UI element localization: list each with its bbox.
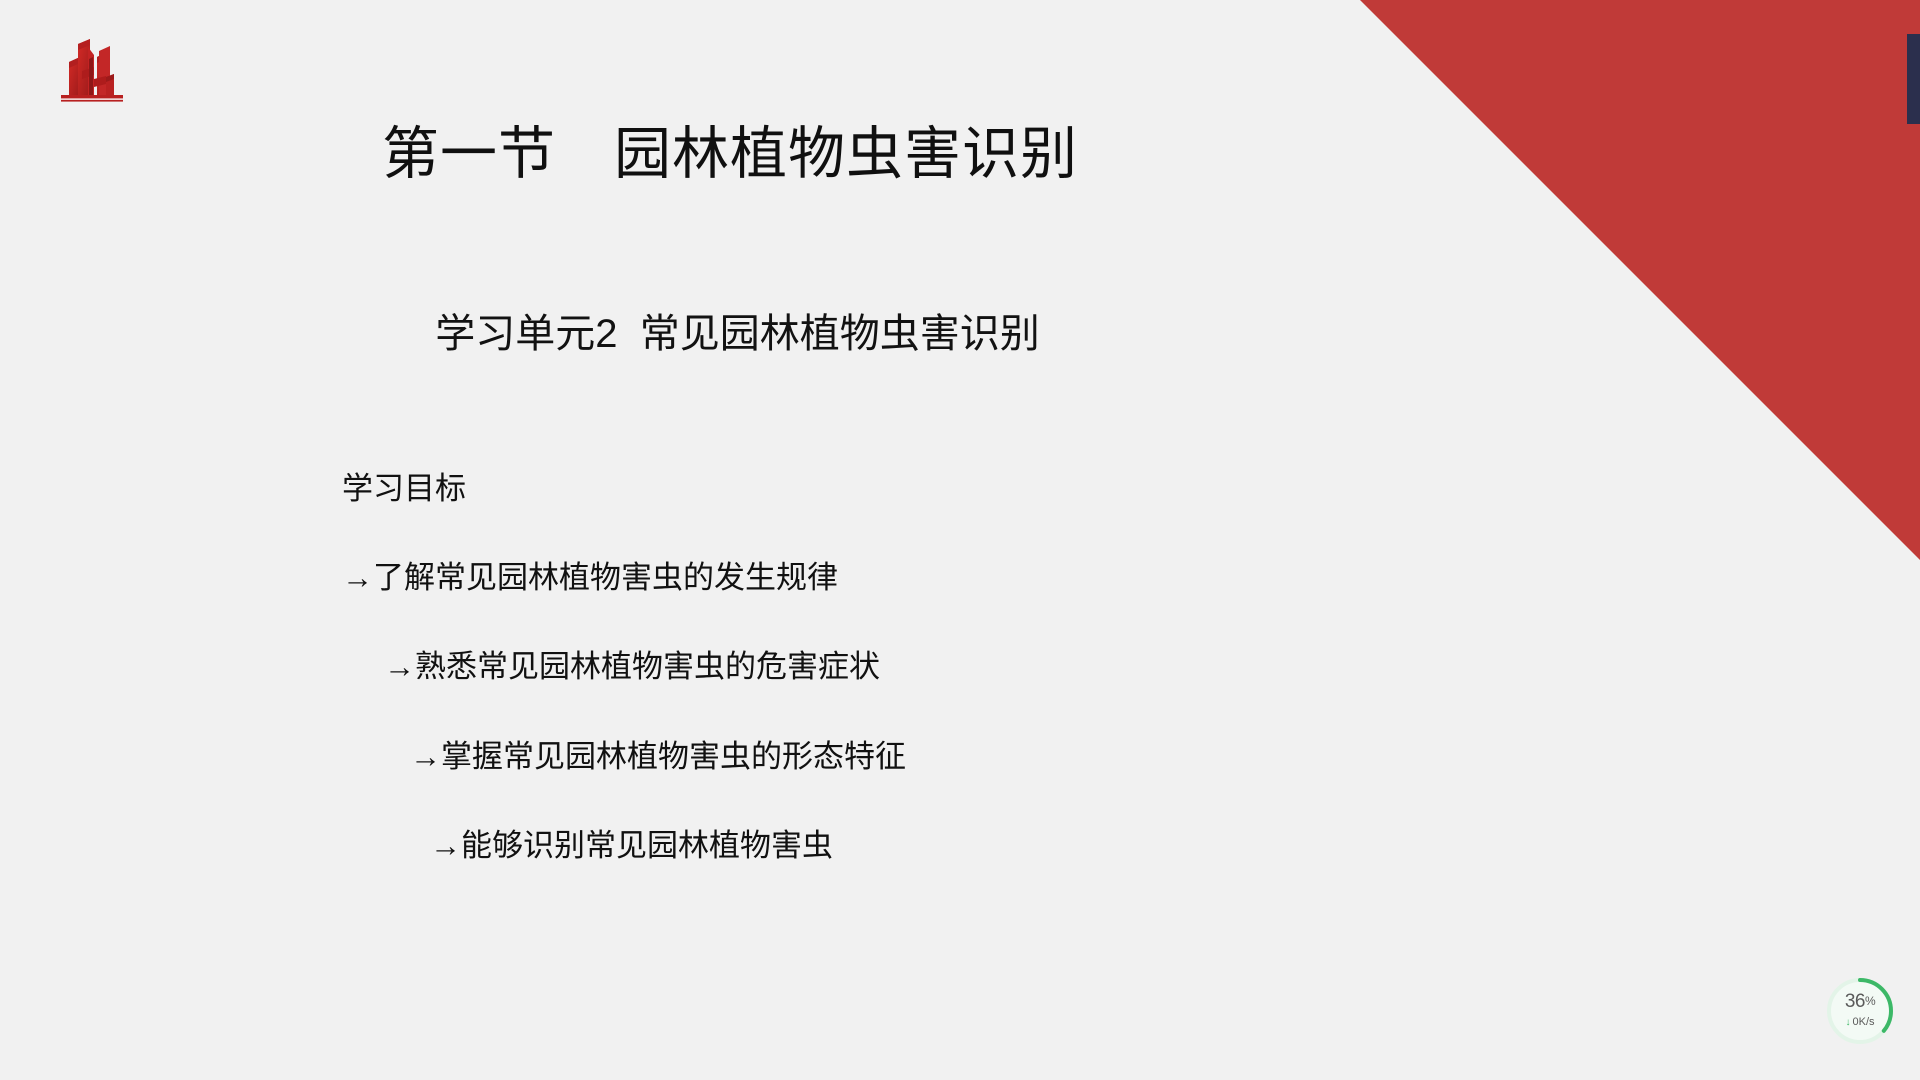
objective-item: →掌握常见园林植物害虫的形态特征 — [410, 738, 1342, 775]
objective-item: →了解常见园林植物害虫的发生规律 — [342, 559, 1342, 596]
decorative-navy-bar — [1907, 34, 1920, 124]
objectives-heading: 学习目标 — [342, 470, 1342, 507]
percent-sign: % — [1865, 994, 1875, 1008]
page-title: 第一节 园林植物虫害识别 — [0, 122, 1460, 188]
objective-item: →熟悉常见园林植物害虫的危害症状 — [384, 648, 1342, 685]
download-progress-widget[interactable]: 36% ↓0K/s — [1823, 974, 1897, 1048]
objective-item: →能够识别常见园林植物害虫 — [430, 827, 1342, 864]
page-subtitle: 学习单元2 常见园林植物虫害识别 — [0, 310, 1475, 358]
download-speed-value: 0K/s — [1852, 1016, 1874, 1028]
learning-objectives-block: 学习目标 →了解常见园林植物害虫的发生规律 →熟悉常见园林植物害虫的危害症状 →… — [342, 470, 1342, 864]
progress-percent-value: 36 — [1845, 991, 1865, 1012]
download-arrow-icon: ↓ — [1845, 1017, 1850, 1028]
presentation-slide: 第一节 园林植物虫害识别 学习单元2 常见园林植物虫害识别 学习目标 →了解常见… — [0, 0, 1920, 1080]
decorative-triangle-top-right — [1360, 0, 1920, 560]
download-speed: ↓0K/s — [1823, 1017, 1897, 1028]
progress-percent: 36% — [1823, 992, 1897, 1011]
